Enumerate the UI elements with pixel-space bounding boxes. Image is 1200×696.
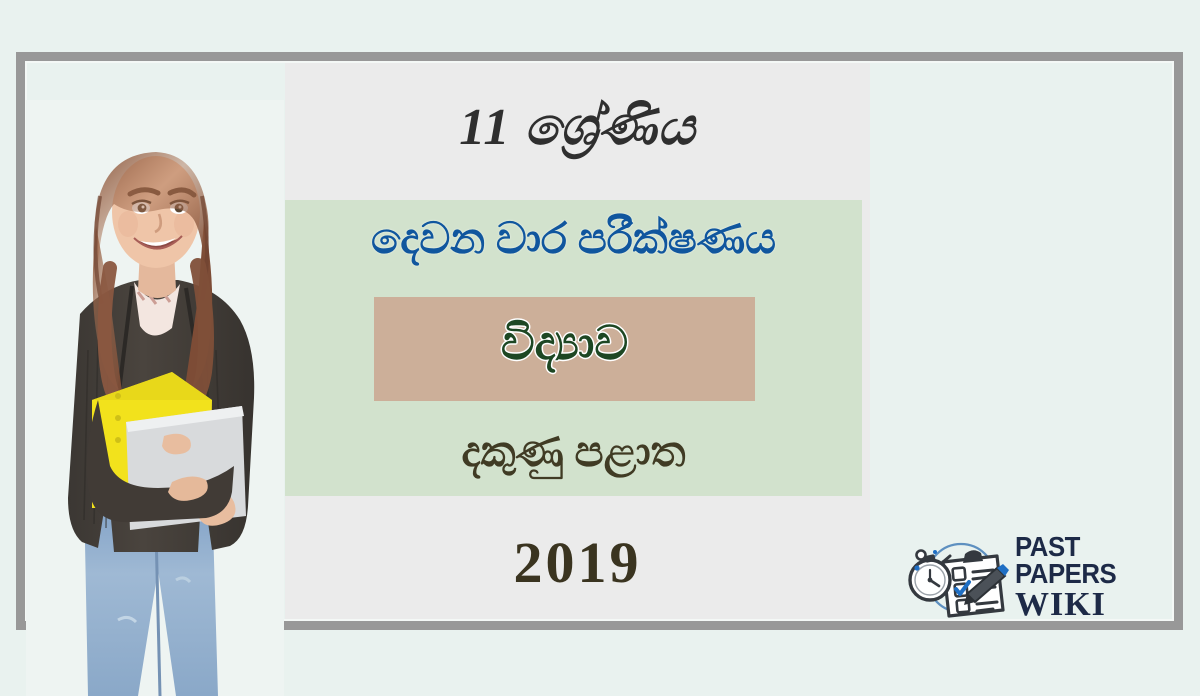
exam-paper-cover: 11 ශ්‍රේණිය දෙවන වාර පරීක්ෂණය විද්‍යාව ද… bbox=[0, 0, 1200, 696]
logo-line-2: WIKI bbox=[1015, 589, 1173, 622]
past-papers-wiki-logo[interactable]: PAST PAPERS WIKI bbox=[905, 530, 1173, 626]
year-label: 2019 bbox=[285, 529, 870, 596]
province-title: දකුණු පළාත bbox=[285, 428, 862, 477]
subject-title: විද්‍යාව bbox=[374, 317, 755, 372]
stopwatch-clipboard-pencil-icon bbox=[905, 532, 1009, 624]
term-exam-title: දෙවන වාර පරීක්ෂණය bbox=[285, 215, 862, 264]
student-photo bbox=[26, 100, 284, 696]
grade-title: 11 ශ්‍රේණිය bbox=[285, 98, 870, 158]
logo-line-1: PAST PAPERS bbox=[1015, 534, 1160, 588]
logo-wordmark: PAST PAPERS WIKI bbox=[1015, 534, 1173, 621]
